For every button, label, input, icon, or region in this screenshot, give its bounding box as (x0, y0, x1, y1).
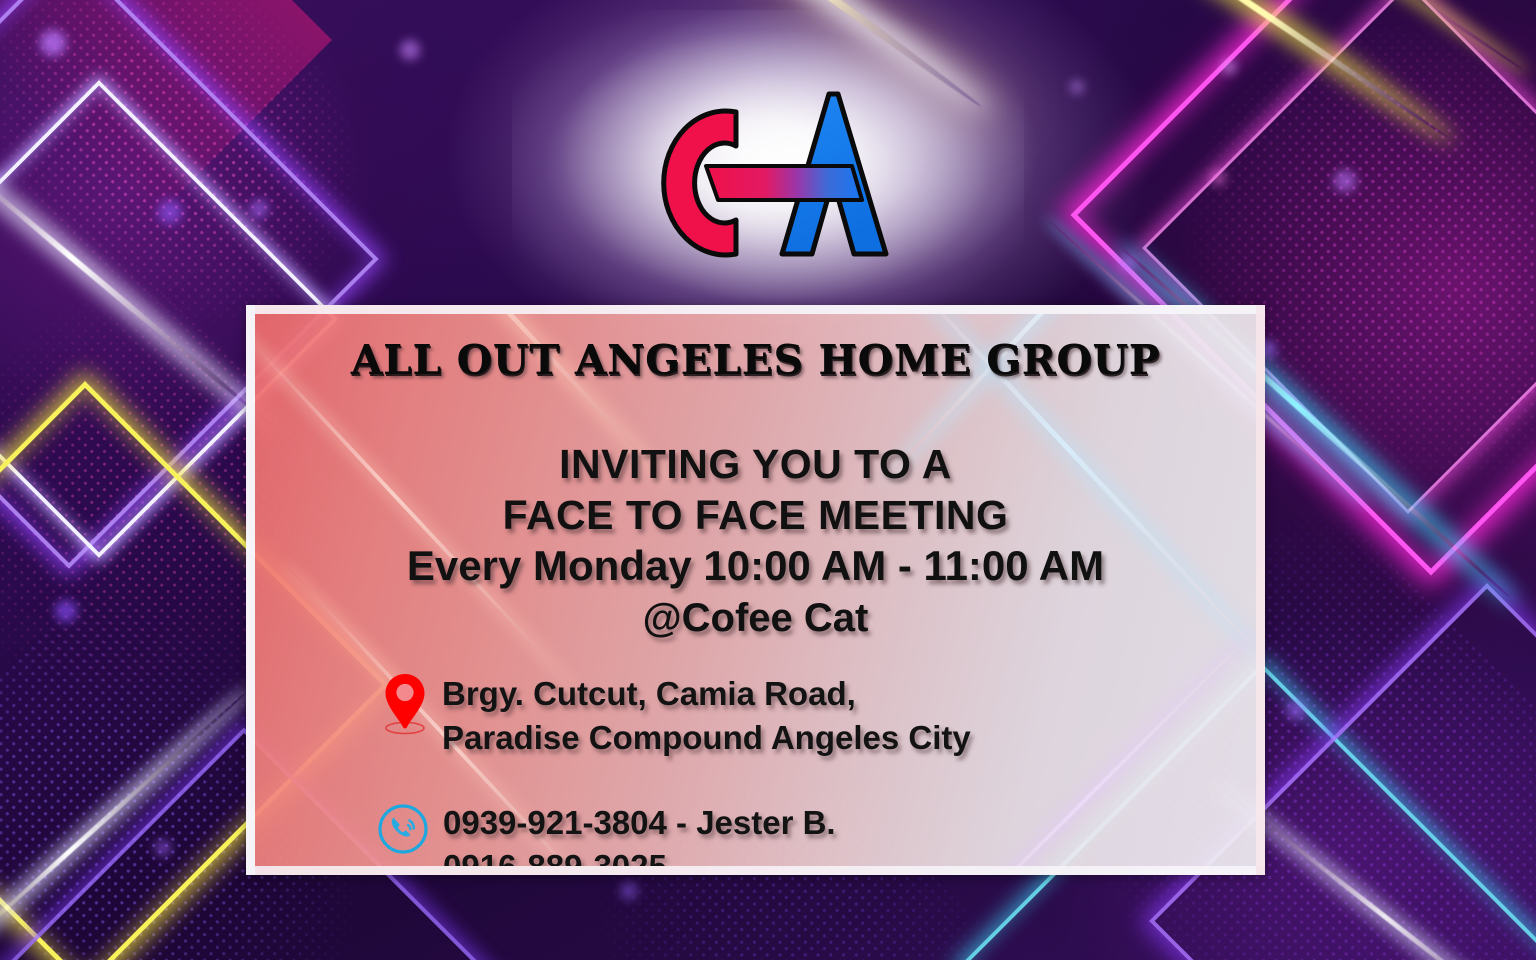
poster-canvas: ALL OUT ANGELES HOME GROUP INVITING YOU … (0, 0, 1536, 960)
logo-crossbar (706, 166, 862, 200)
bokeh-dot (55, 600, 77, 622)
address-line-2: Paradise Compound Angeles City (442, 716, 971, 760)
bokeh-dot (40, 30, 66, 56)
invite-venue: @Cofee Cat (255, 596, 1256, 641)
location-pin-icon (382, 672, 428, 736)
invite-line-2: FACE TO FACE MEETING (255, 492, 1256, 539)
bokeh-dot (620, 882, 638, 900)
bokeh-dot (1286, 700, 1306, 720)
address-line-1: Brgy. Cutcut, Camia Road, (442, 672, 971, 716)
bokeh-dot (158, 200, 182, 224)
address-text: Brgy. Cutcut, Camia Road, Paradise Compo… (442, 672, 971, 759)
bokeh-dot (155, 840, 171, 856)
ga-logo (586, 68, 916, 288)
bokeh-dot (1210, 170, 1226, 186)
invite-line-1: INVITING YOU TO A (255, 441, 1256, 488)
bokeh-dot (250, 200, 268, 218)
contact-line-1: 0939-921-3804 - Jester B. (443, 801, 836, 845)
contact-line-2: 0916-889-3025 (443, 845, 836, 875)
address-block: Brgy. Cutcut, Camia Road, Paradise Compo… (382, 672, 971, 759)
group-title: ALL OUT ANGELES HOME GROUP (255, 336, 1256, 384)
bokeh-dot (1222, 60, 1236, 74)
bokeh-dot (1334, 170, 1356, 192)
bokeh-dot (1070, 80, 1084, 94)
phone-ring-icon (377, 801, 429, 857)
invitation-card: ALL OUT ANGELES HOME GROUP INVITING YOU … (246, 305, 1265, 875)
bokeh-dot (1120, 255, 1136, 271)
bokeh-dot (400, 40, 420, 60)
contact-text: 0939-921-3804 - Jester B. 0916-889-3025 (443, 801, 836, 875)
contact-block: 0939-921-3804 - Jester B. 0916-889-3025 (377, 801, 836, 875)
invite-schedule: Every Monday 10:00 AM - 11:00 AM (255, 542, 1256, 590)
